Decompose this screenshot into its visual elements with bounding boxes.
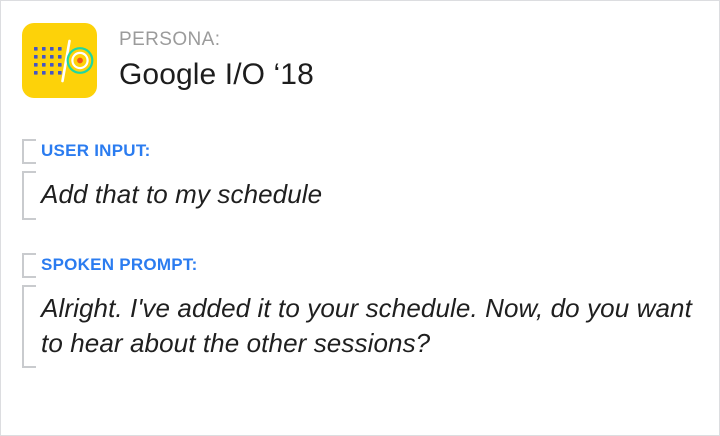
header-text-group: PERSONA: Google I/O ‘18 bbox=[119, 23, 314, 94]
persona-name: Google I/O ‘18 bbox=[119, 55, 314, 94]
google-io-logo-icon bbox=[22, 23, 97, 98]
bracket-tick-top bbox=[22, 253, 36, 255]
bracket-tick-bottom bbox=[22, 162, 36, 164]
persona-dialogue-card: PERSONA: Google I/O ‘18 USER INPUT: Add … bbox=[0, 0, 720, 436]
card-header: PERSONA: Google I/O ‘18 bbox=[22, 23, 314, 98]
section-spoken-prompt: SPOKEN PROMPT: Alright. I've added it to… bbox=[22, 253, 695, 368]
bracket-tick-top bbox=[22, 171, 36, 173]
persona-label: PERSONA: bbox=[119, 28, 314, 52]
bracket-tick-bottom bbox=[22, 218, 36, 220]
user-input-label-bracket: USER INPUT: bbox=[22, 139, 695, 164]
spoken-prompt-label-bracket: SPOKEN PROMPT: bbox=[22, 253, 695, 278]
bracket-tick-top bbox=[22, 285, 36, 287]
spoken-prompt-text: Alright. I've added it to your schedule.… bbox=[41, 285, 695, 368]
user-input-text: Add that to my schedule bbox=[41, 171, 695, 220]
spoken-prompt-label: SPOKEN PROMPT: bbox=[41, 253, 695, 278]
bracket-tick-bottom bbox=[22, 366, 36, 368]
spoken-prompt-body-bracket: Alright. I've added it to your schedule.… bbox=[22, 285, 695, 368]
bracket-tick-bottom bbox=[22, 276, 36, 278]
bracket-tick-top bbox=[22, 139, 36, 141]
user-input-label: USER INPUT: bbox=[41, 139, 695, 164]
user-input-body-bracket: Add that to my schedule bbox=[22, 171, 695, 220]
section-user-input: USER INPUT: Add that to my schedule bbox=[22, 139, 695, 220]
